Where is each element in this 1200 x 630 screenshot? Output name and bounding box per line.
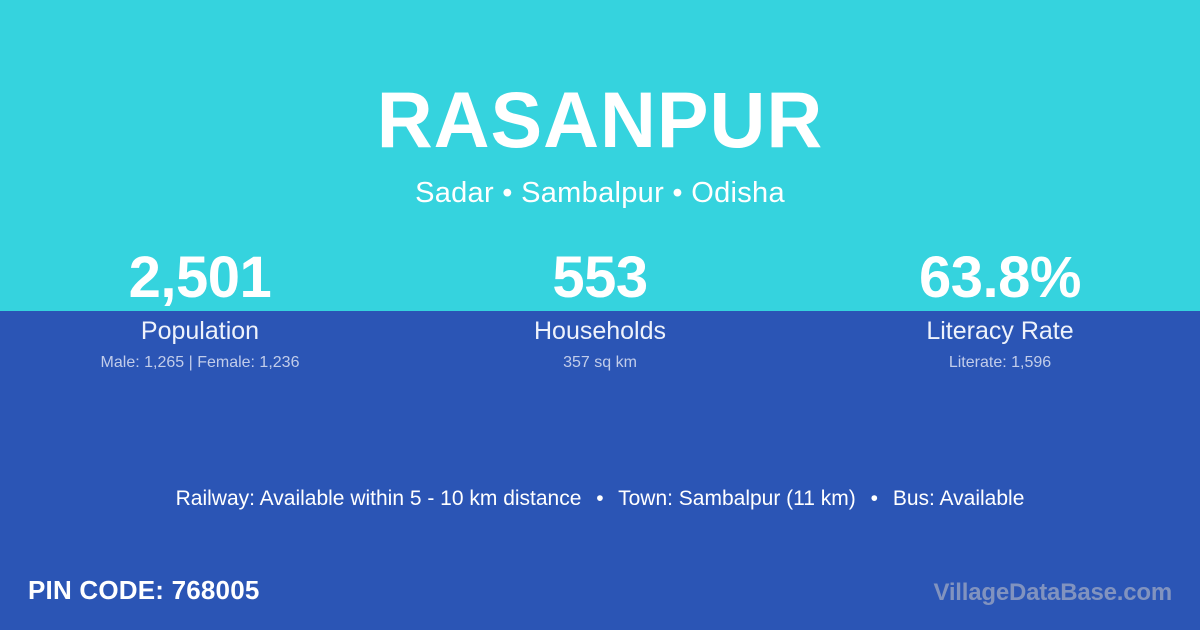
brand-watermark: VillageDataBase.com xyxy=(933,576,1172,610)
breadcrumb: Sadar • Sambalpur • Odisha xyxy=(0,160,1200,210)
village-info-card: RASANPUR Sadar • Sambalpur • Odisha 2,50… xyxy=(0,0,1200,630)
amenities-row: Railway: Available within 5 - 10 km dist… xyxy=(0,484,1200,514)
card-footer: PIN CODE: 768005 VillageDataBase.com xyxy=(0,572,1200,616)
stat-value-literacy-rate: 63.8% xyxy=(800,245,1200,311)
stat-households: 553 Households 357 sq km xyxy=(400,245,800,373)
amenity-bus: Bus: Available xyxy=(893,487,1025,510)
stat-value-households: 553 xyxy=(400,245,800,311)
stats-row: 2,501 Population Male: 1,265 | Female: 1… xyxy=(0,245,1200,373)
amenity-railway: Railway: Available within 5 - 10 km dist… xyxy=(176,487,582,510)
amenity-town: Town: Sambalpur (11 km) xyxy=(618,487,856,510)
stat-detail-population: Male: 1,265 | Female: 1,236 xyxy=(0,353,400,373)
amenity-separator-1: • xyxy=(587,484,612,514)
pin-code: PIN CODE: 768005 xyxy=(28,572,260,608)
page-title: RASANPUR xyxy=(12,0,1188,160)
stat-label-population: Population xyxy=(0,317,400,346)
stat-population: 2,501 Population Male: 1,265 | Female: 1… xyxy=(0,245,400,373)
card-header: RASANPUR Sadar • Sambalpur • Odisha xyxy=(0,0,1200,210)
stat-detail-households: 357 sq km xyxy=(400,353,800,373)
stat-label-literacy-rate: Literacy Rate xyxy=(800,317,1200,346)
stat-label-households: Households xyxy=(400,317,800,346)
amenity-separator-2: • xyxy=(862,484,887,514)
stat-literacy-rate: 63.8% Literacy Rate Literate: 1,596 xyxy=(800,245,1200,373)
stat-value-population: 2,501 xyxy=(0,245,400,311)
stat-detail-literacy-rate: Literate: 1,596 xyxy=(800,353,1200,373)
